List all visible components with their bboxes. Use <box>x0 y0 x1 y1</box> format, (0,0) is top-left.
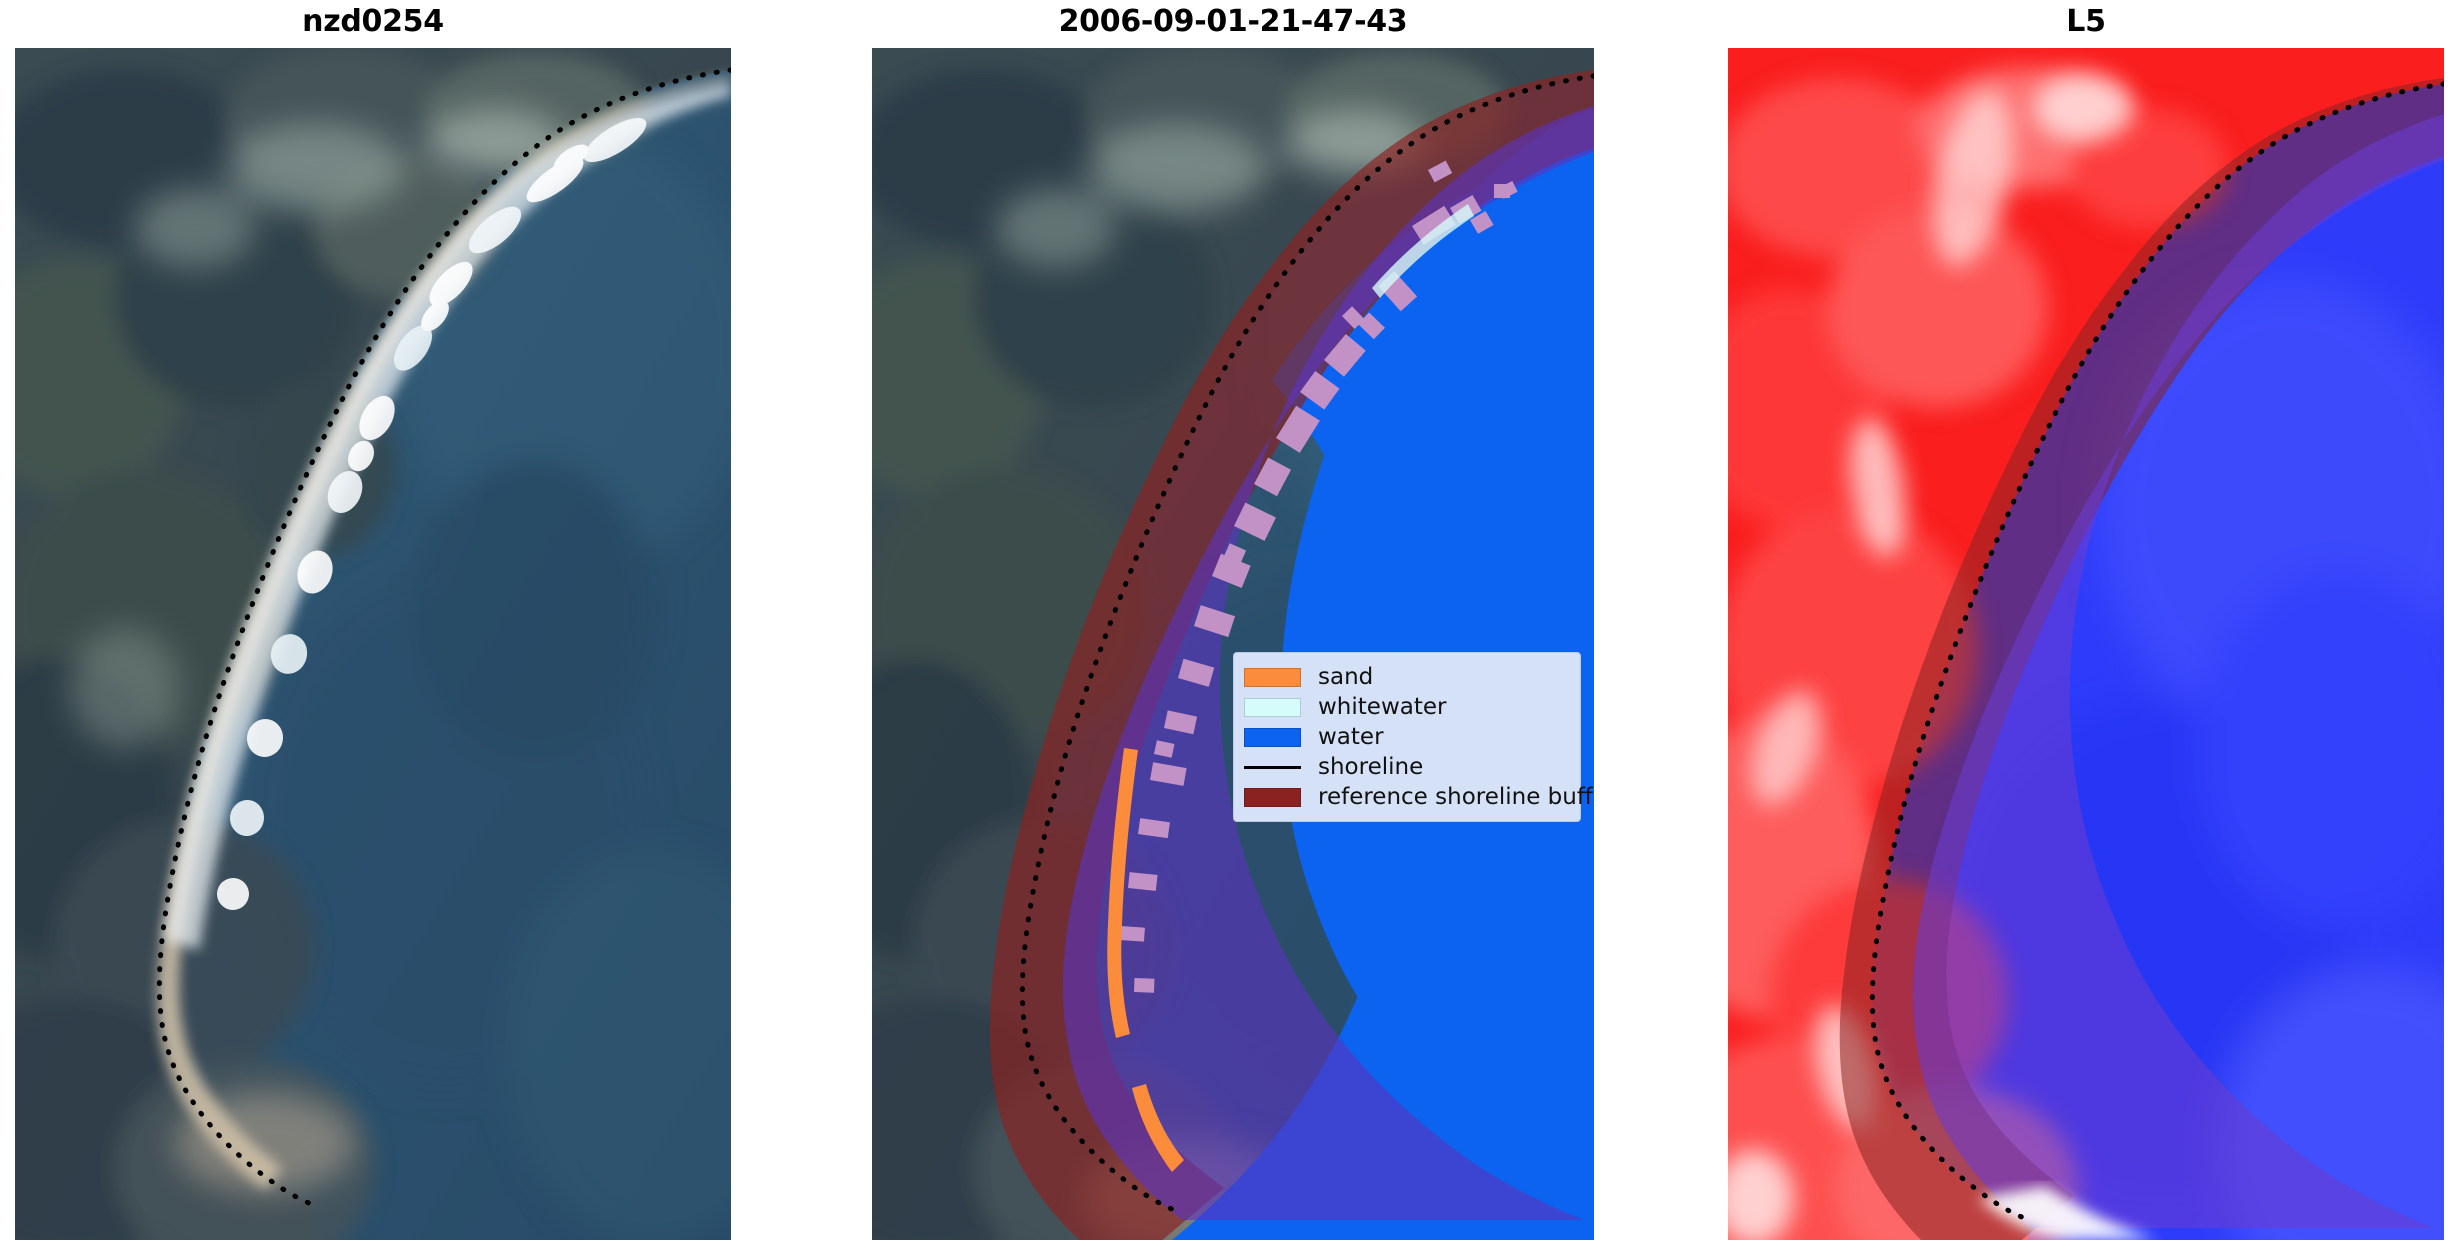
axes-index <box>1728 48 2444 1240</box>
legend: sand whitewater water shoreline referenc… <box>1233 652 1581 822</box>
index-spectral-image <box>1728 48 2444 1240</box>
legend-swatch-reference-shoreline-buffer <box>1244 788 1301 807</box>
legend-swatch-shoreline <box>1244 758 1301 777</box>
legend-label-whitewater: whitewater <box>1318 696 1446 719</box>
classified-sand-isolated-pixel <box>1494 184 1510 198</box>
legend-label-water: water <box>1318 726 1384 749</box>
legend-item-shoreline: shoreline <box>1244 752 1568 782</box>
panel-title-rgb: nzd0254 <box>15 4 731 40</box>
figure-canvas: nzd0254 <box>0 0 2460 1255</box>
panel-classified-image: 2006-09-01-21-47-43 <box>872 0 1594 1255</box>
rgb-satellite-image <box>15 48 731 1240</box>
legend-label-shoreline: shoreline <box>1318 756 1423 779</box>
panel-index-image: L5 <box>1728 0 2444 1255</box>
legend-label-sand: sand <box>1318 666 1373 689</box>
legend-swatch-sand <box>1244 668 1301 687</box>
axes-classified: sand whitewater water shoreline referenc… <box>872 48 1594 1240</box>
legend-item-sand: sand <box>1244 662 1568 692</box>
panel-title-classified: 2006-09-01-21-47-43 <box>872 4 1594 40</box>
legend-swatch-water <box>1244 728 1301 747</box>
panel-rgb-image: nzd0254 <box>15 0 731 1255</box>
legend-swatch-whitewater <box>1244 698 1301 717</box>
legend-item-reference-shoreline-buffer: reference shoreline buffer <box>1244 782 1568 812</box>
classified-satellite-image <box>872 48 1594 1240</box>
legend-item-whitewater: whitewater <box>1244 692 1568 722</box>
legend-label-reference-shoreline-buffer: reference shoreline buffer <box>1318 786 1594 809</box>
axes-rgb <box>15 48 731 1240</box>
legend-item-water: water <box>1244 722 1568 752</box>
panel-title-index: L5 <box>1728 4 2444 40</box>
